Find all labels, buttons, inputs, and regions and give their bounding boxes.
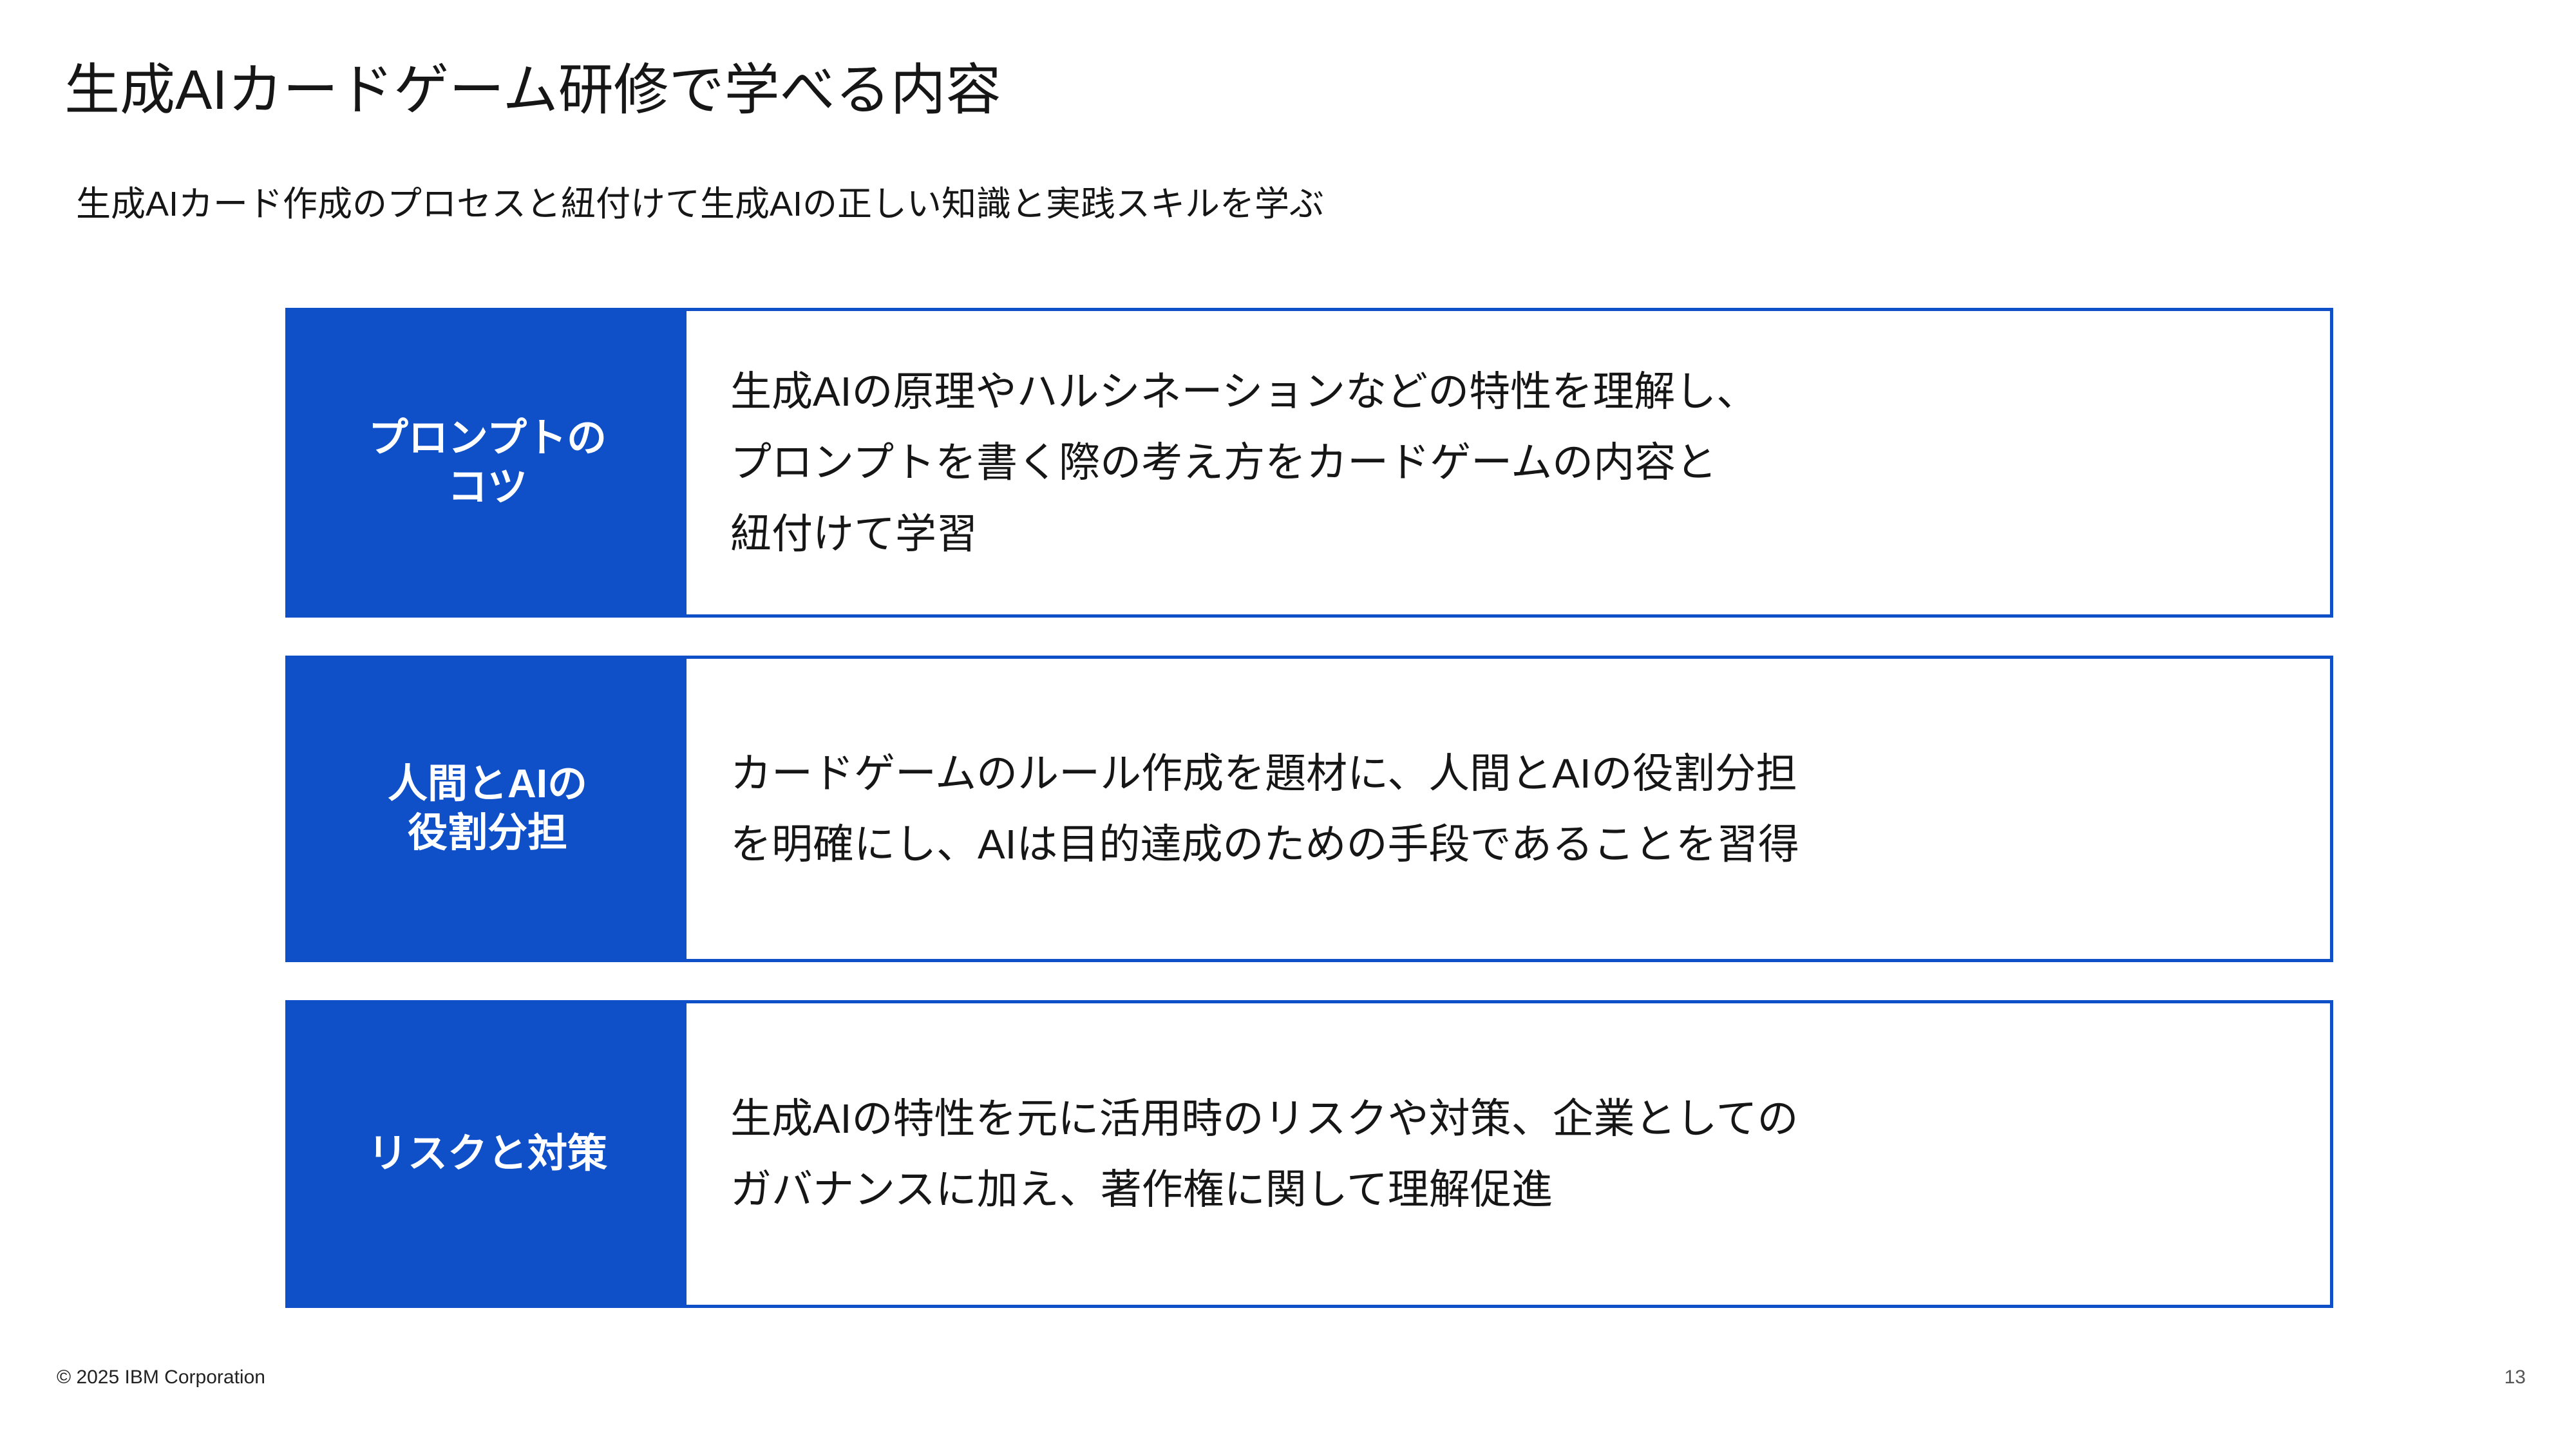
row-label-line: 人間とAIの [388,760,587,809]
slide-canvas: 生成AIカードゲーム研修で学べる内容 生成AIカード作成のプロセスと紐付けて生成… [0,0,2576,1449]
row-body-line: を明確にし、AIは目的達成のための手段であることを習得 [730,809,2315,880]
row-body-prompt-tips: 生成AIの原理やハルシネーションなどの特性を理解し、 プロンプトを書く際の考え方… [687,311,2330,614]
list-item: プロンプトの コツ 生成AIの原理やハルシネーションなどの特性を理解し、 プロン… [285,308,2333,618]
row-body-line: 紐付けて学習 [730,498,2315,569]
list-item: リスクと対策 生成AIの特性を元に活用時のリスクや対策、企業としての ガバナンス… [285,1000,2333,1308]
row-label-human-ai-roles: 人間とAIの 役割分担 [289,659,687,959]
row-label-line: コツ [448,463,527,512]
footer-page-number: 13 [2505,1367,2526,1388]
page-subtitle: 生成AIカード作成のプロセスと紐付けて生成AIの正しい知識と実践スキルを学ぶ [76,185,1324,223]
footer-copyright: © 2025 IBM Corporation [57,1367,265,1388]
row-body-human-ai-roles: カードゲームのルール作成を題材に、人間とAIの役割分担 を明確にし、AIは目的達… [687,659,2330,959]
row-label-line: 役割分担 [408,809,567,858]
row-body-line: ガバナンスに加え、著作権に関して理解促進 [730,1154,2315,1225]
page-title: 生成AIカードゲーム研修で学べる内容 [64,61,1001,119]
row-body-line: カードゲームのルール作成を題材に、人間とAIの役割分担 [730,738,2315,809]
row-body-risks-countermeasures: 生成AIの特性を元に活用時のリスクや対策、企業としての ガバナンスに加え、著作権… [687,1003,2330,1305]
row-body-line: 生成AIの特性を元に活用時のリスクや対策、企業としての [730,1083,2315,1154]
row-label-risks-countermeasures: リスクと対策 [289,1003,687,1305]
row-label-line: リスクと対策 [368,1130,607,1179]
content-rows-list: プロンプトの コツ 生成AIの原理やハルシネーションなどの特性を理解し、 プロン… [285,308,2333,1308]
row-label-line: プロンプトの [368,414,607,463]
row-body-line: プロンプトを書く際の考え方をカードゲームの内容と [730,427,2315,498]
row-body-line: 生成AIの原理やハルシネーションなどの特性を理解し、 [730,356,2315,427]
list-item: 人間とAIの 役割分担 カードゲームのルール作成を題材に、人間とAIの役割分担 … [285,656,2333,962]
row-label-prompt-tips: プロンプトの コツ [289,311,687,614]
